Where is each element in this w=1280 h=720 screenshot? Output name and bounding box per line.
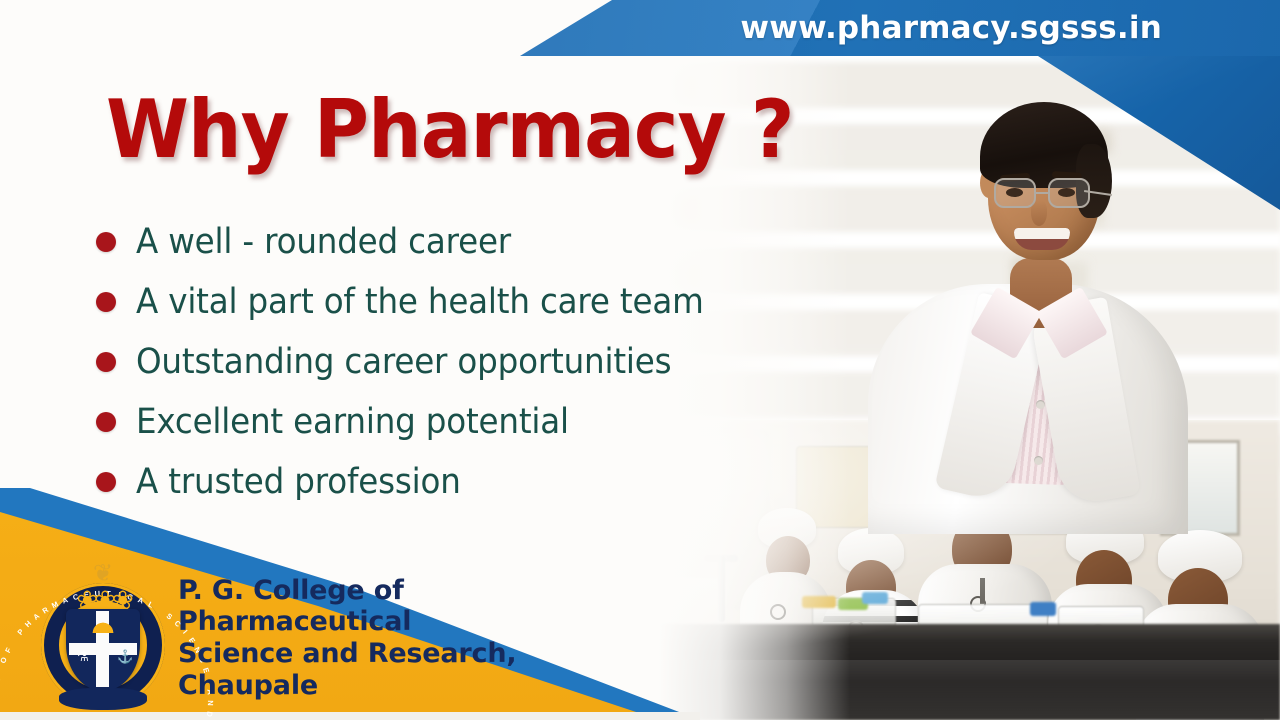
list-item-label: A vital part of the health care team — [136, 282, 704, 322]
bullet-dot-icon — [96, 412, 116, 432]
list-item-label: A well - rounded career — [136, 222, 511, 262]
bullet-dot-icon — [96, 472, 116, 492]
flask-icon: ⚓ — [117, 649, 133, 665]
list-item: Outstanding career opportunities — [96, 332, 856, 392]
list-item-label: A trusted profession — [136, 462, 461, 502]
list-item: Excellent earning potential — [96, 392, 856, 452]
bullet-dot-icon — [96, 352, 116, 372]
list-item-label: Outstanding career opportunities — [136, 342, 671, 382]
college-name-line1: P. G. College of Pharmaceutical — [178, 575, 411, 638]
mortar-pestle-icon: ⚗ — [75, 649, 91, 665]
slide-canvas: www.pharmacy.sgsss.in Why Pharmacy ? A w… — [0, 0, 1280, 720]
bullet-dot-icon — [96, 292, 116, 312]
website-url[interactable]: www.pharmacy.sgsss.in — [520, 0, 1280, 56]
college-logo: ❦ P. G. COLLEGE OF PHARMACEUTICAL SCIENC… — [33, 557, 173, 712]
pharmacist-portrait — [860, 52, 1190, 522]
logo-ribbon — [59, 688, 147, 710]
bullet-dot-icon — [96, 232, 116, 252]
footer-bottom-strip — [0, 712, 700, 720]
college-name-line2: Science and Research, Chaupale — [178, 638, 638, 702]
sunburst-icon — [85, 615, 121, 633]
list-item: A trusted profession — [96, 452, 856, 512]
college-name: P. G. College of Pharmaceutical Science … — [178, 575, 638, 702]
list-item: A vital part of the health care team — [96, 272, 856, 332]
list-item-label: Excellent earning potential — [136, 402, 569, 442]
list-item: A well - rounded career — [96, 212, 856, 272]
benefits-list: A well - rounded career A vital part of … — [96, 212, 856, 512]
page-title: Why Pharmacy ? — [106, 83, 794, 176]
